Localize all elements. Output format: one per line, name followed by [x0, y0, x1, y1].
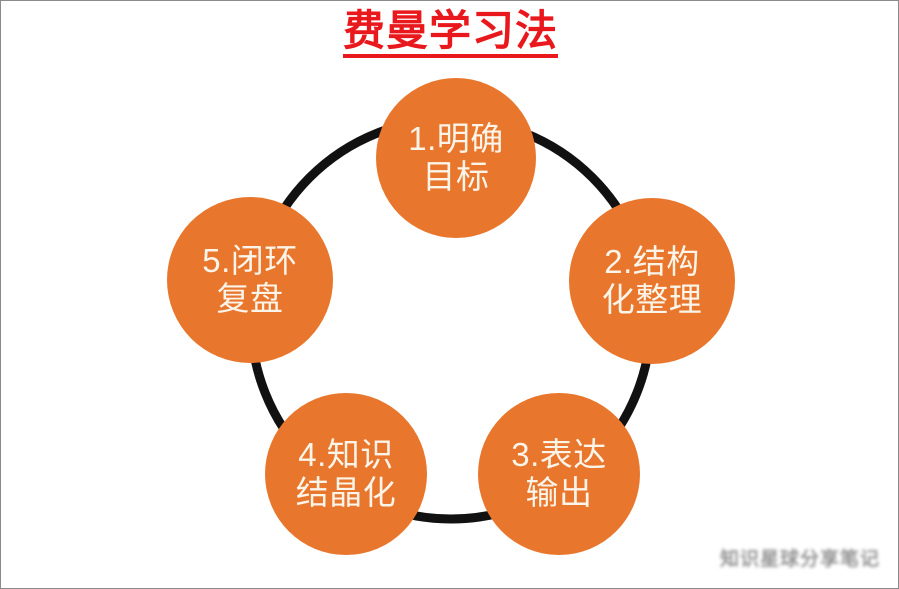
watermark: 知识星球分享笔记: [674, 544, 880, 570]
cycle-node-3[interactable]: 3.表达 输出: [478, 393, 640, 555]
cycle-node-4[interactable]: 4.知识 结晶化: [265, 393, 427, 555]
diagram-canvas: 费曼学习法 1.明确 目标 2.结构 化整理 3.表达 输出 4.知识 结晶化 …: [0, 0, 899, 589]
cycle-diagram: 1.明确 目标 2.结构 化整理 3.表达 输出 4.知识 结晶化 5.闭环 复…: [1, 1, 899, 589]
cycle-node-5-label: 5.闭环 复盘: [196, 242, 304, 319]
cycle-node-4-label: 4.知识 结晶化: [290, 436, 403, 513]
cycle-node-1-label: 1.明确 目标: [402, 120, 510, 197]
cycle-node-3-label: 3.表达 输出: [505, 436, 613, 513]
watermark-text: 知识星球分享笔记: [720, 544, 880, 570]
cycle-node-5[interactable]: 5.闭环 复盘: [167, 197, 333, 363]
cycle-node-2[interactable]: 2.结构 化整理: [569, 198, 735, 364]
cycle-node-2-label: 2.结构 化整理: [596, 243, 709, 320]
cycle-node-1[interactable]: 1.明确 目标: [376, 78, 536, 238]
